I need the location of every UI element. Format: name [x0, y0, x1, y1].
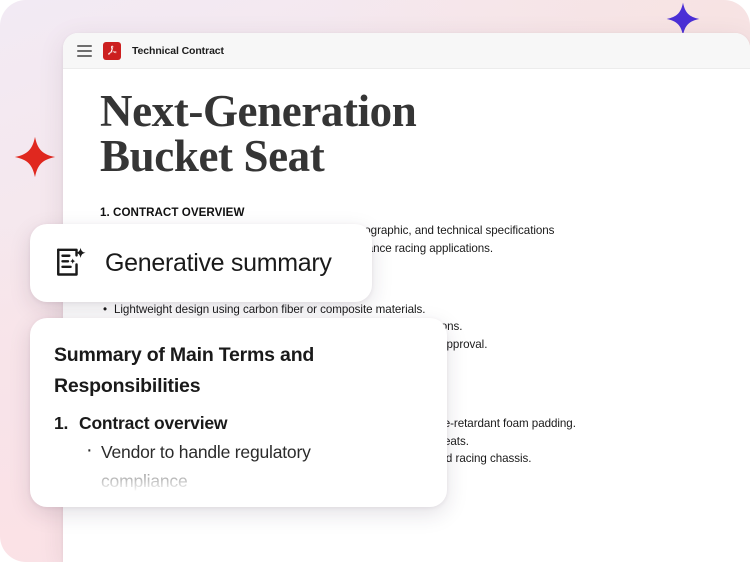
summary-list: 1. Contract overview Vendor to handle re… [54, 410, 423, 496]
generative-summary-label: Generative summary [105, 249, 332, 278]
summary-list-item: 1. Contract overview Vendor to handle re… [54, 410, 423, 496]
screenshot-stage: Technical Contract Next-Generation Bucke… [0, 0, 750, 562]
page-title-line1: Next-Generation [100, 89, 716, 134]
summary-subitem-faded: compliance [79, 467, 423, 496]
section-heading-1: 1. CONTRACT OVERVIEW [100, 206, 716, 219]
page-title-line2: Bucket Seat [100, 134, 716, 179]
document-toolbar: Technical Contract [63, 33, 750, 69]
generative-summary-card[interactable]: Generative summary [30, 224, 372, 302]
page-title: Next-Generation Bucket Seat [100, 89, 716, 179]
sparkle-purple-icon [666, 2, 700, 36]
document-title: Technical Contract [132, 45, 224, 57]
summary-item-label: Contract overview [79, 413, 227, 433]
document-sparkle-icon [54, 246, 88, 280]
summary-heading: Summary of Main Terms and Responsibiliti… [54, 340, 423, 402]
sparkle-red-icon [14, 136, 56, 178]
summary-item-number: 1. [54, 410, 68, 436]
adobe-acrobat-icon [103, 42, 121, 60]
summary-card: Summary of Main Terms and Responsibiliti… [30, 318, 447, 507]
summary-subitem: Vendor to handle regulatory [79, 438, 423, 467]
summary-sublist: Vendor to handle regulatory compliance [79, 438, 423, 496]
list-item: Lightweight design using carbon fiber or… [100, 301, 716, 319]
hamburger-icon[interactable] [77, 45, 92, 57]
